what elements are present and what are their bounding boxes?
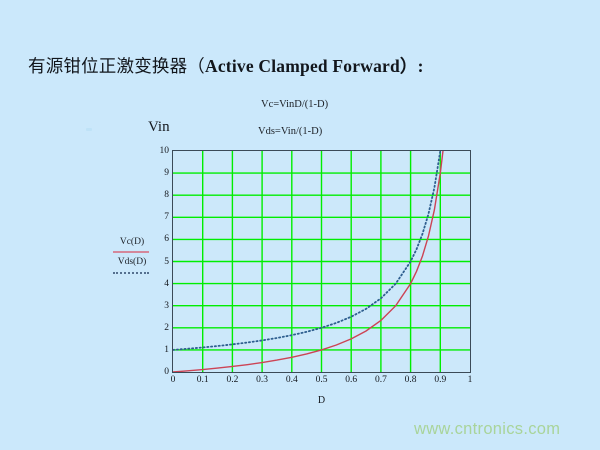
slide-canvas: 有源钳位正激变换器（Active Clamped Forward）: Vc=Vi…	[0, 0, 600, 450]
legend-item-label-vds: Vds(D)	[104, 256, 160, 268]
chart-plot-area: 012345678910 00.10.20.30.40.50.60.70.80.…	[172, 150, 471, 373]
y-tick-label: 9	[164, 168, 169, 178]
chart-legend: Vc(D) Vds(D)	[104, 236, 160, 276]
page-title-chinese: 有源钳位正激变换器（	[28, 56, 205, 76]
legend-item-label-vc: Vc(D)	[104, 236, 160, 248]
x-tick-label: 0.9	[434, 375, 446, 385]
page-title-tail: ）:	[400, 56, 424, 76]
stray-mark	[86, 128, 92, 131]
x-tick-label: 0.4	[286, 375, 298, 385]
y-tick-label: 2	[164, 323, 169, 333]
y-axis-title: Vin	[148, 119, 170, 136]
x-tick-label: 0.8	[405, 375, 417, 385]
curve-vcd	[173, 151, 446, 372]
formula-vds: Vds=Vin/(1-D)	[258, 126, 322, 137]
y-tick-label: 8	[164, 190, 169, 200]
x-tick-label: 1	[468, 375, 473, 385]
legend-swatch-vc	[104, 248, 160, 256]
legend-swatch-vds	[104, 268, 160, 276]
x-tick-label: 0.7	[375, 375, 387, 385]
curve-vdsd	[173, 151, 446, 350]
page-title: 有源钳位正激变换器（Active Clamped Forward）:	[28, 53, 424, 78]
y-tick-label: 4	[164, 279, 169, 289]
y-tick-label: 0	[164, 367, 169, 377]
y-tick-label: 3	[164, 301, 169, 311]
x-tick-label: 0.6	[345, 375, 357, 385]
x-tick-label: 0.5	[316, 375, 328, 385]
x-tick-label: 0.1	[197, 375, 209, 385]
x-tick-label: 0	[171, 375, 176, 385]
page-title-english: Active Clamped Forward	[205, 56, 400, 76]
x-tick-label: 0.2	[226, 375, 238, 385]
watermark: www.cntronics.com	[414, 420, 560, 439]
x-axis-title: D	[172, 395, 471, 406]
formula-vc: Vc=VinD/(1-D)	[261, 99, 328, 110]
y-tick-label: 7	[164, 212, 169, 222]
x-tick-label: 0.3	[256, 375, 268, 385]
chart-curves	[173, 151, 470, 372]
y-tick-label: 5	[164, 257, 169, 267]
chart-plot-inner	[173, 151, 470, 372]
y-tick-label: 10	[160, 146, 170, 156]
y-tick-label: 1	[164, 345, 169, 355]
y-tick-label: 6	[164, 234, 169, 244]
